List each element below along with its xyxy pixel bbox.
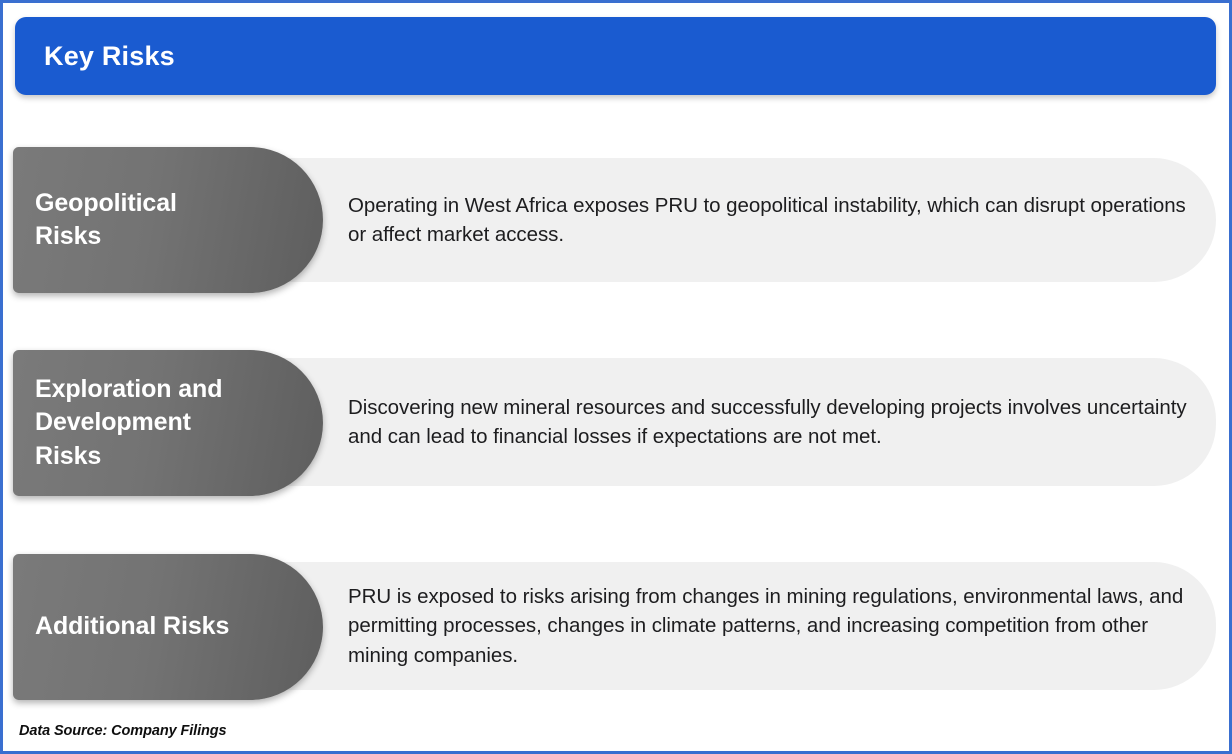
risk-description: PRU is exposed to risks arising from cha… bbox=[348, 582, 1188, 669]
risk-description: Operating in West Africa exposes PRU to … bbox=[348, 191, 1188, 249]
header-bar: Key Risks bbox=[15, 17, 1216, 95]
risk-row: Discovering new mineral resources and su… bbox=[3, 346, 1229, 498]
data-source-note: Data Source: Company Filings bbox=[19, 723, 227, 739]
risk-label: Geopolitical Risks bbox=[35, 187, 233, 254]
risk-row: PRU is exposed to risks arising from cha… bbox=[3, 550, 1229, 702]
key-risks-slide: Key Risks Operating in West Africa expos… bbox=[0, 0, 1232, 754]
risk-description: Discovering new mineral resources and su… bbox=[348, 393, 1188, 451]
risk-label-pill: Exploration and Development Risks bbox=[13, 350, 323, 496]
risk-label: Additional Risks bbox=[35, 610, 229, 643]
risk-label: Exploration and Development Risks bbox=[35, 373, 233, 473]
risk-row: Operating in West Africa exposes PRU to … bbox=[3, 143, 1229, 295]
page-title: Key Risks bbox=[44, 43, 175, 70]
risk-label-pill: Additional Risks bbox=[13, 554, 323, 700]
risk-list: Operating in West Africa exposes PRU to … bbox=[3, 95, 1229, 707]
risk-label-pill: Geopolitical Risks bbox=[13, 147, 323, 293]
